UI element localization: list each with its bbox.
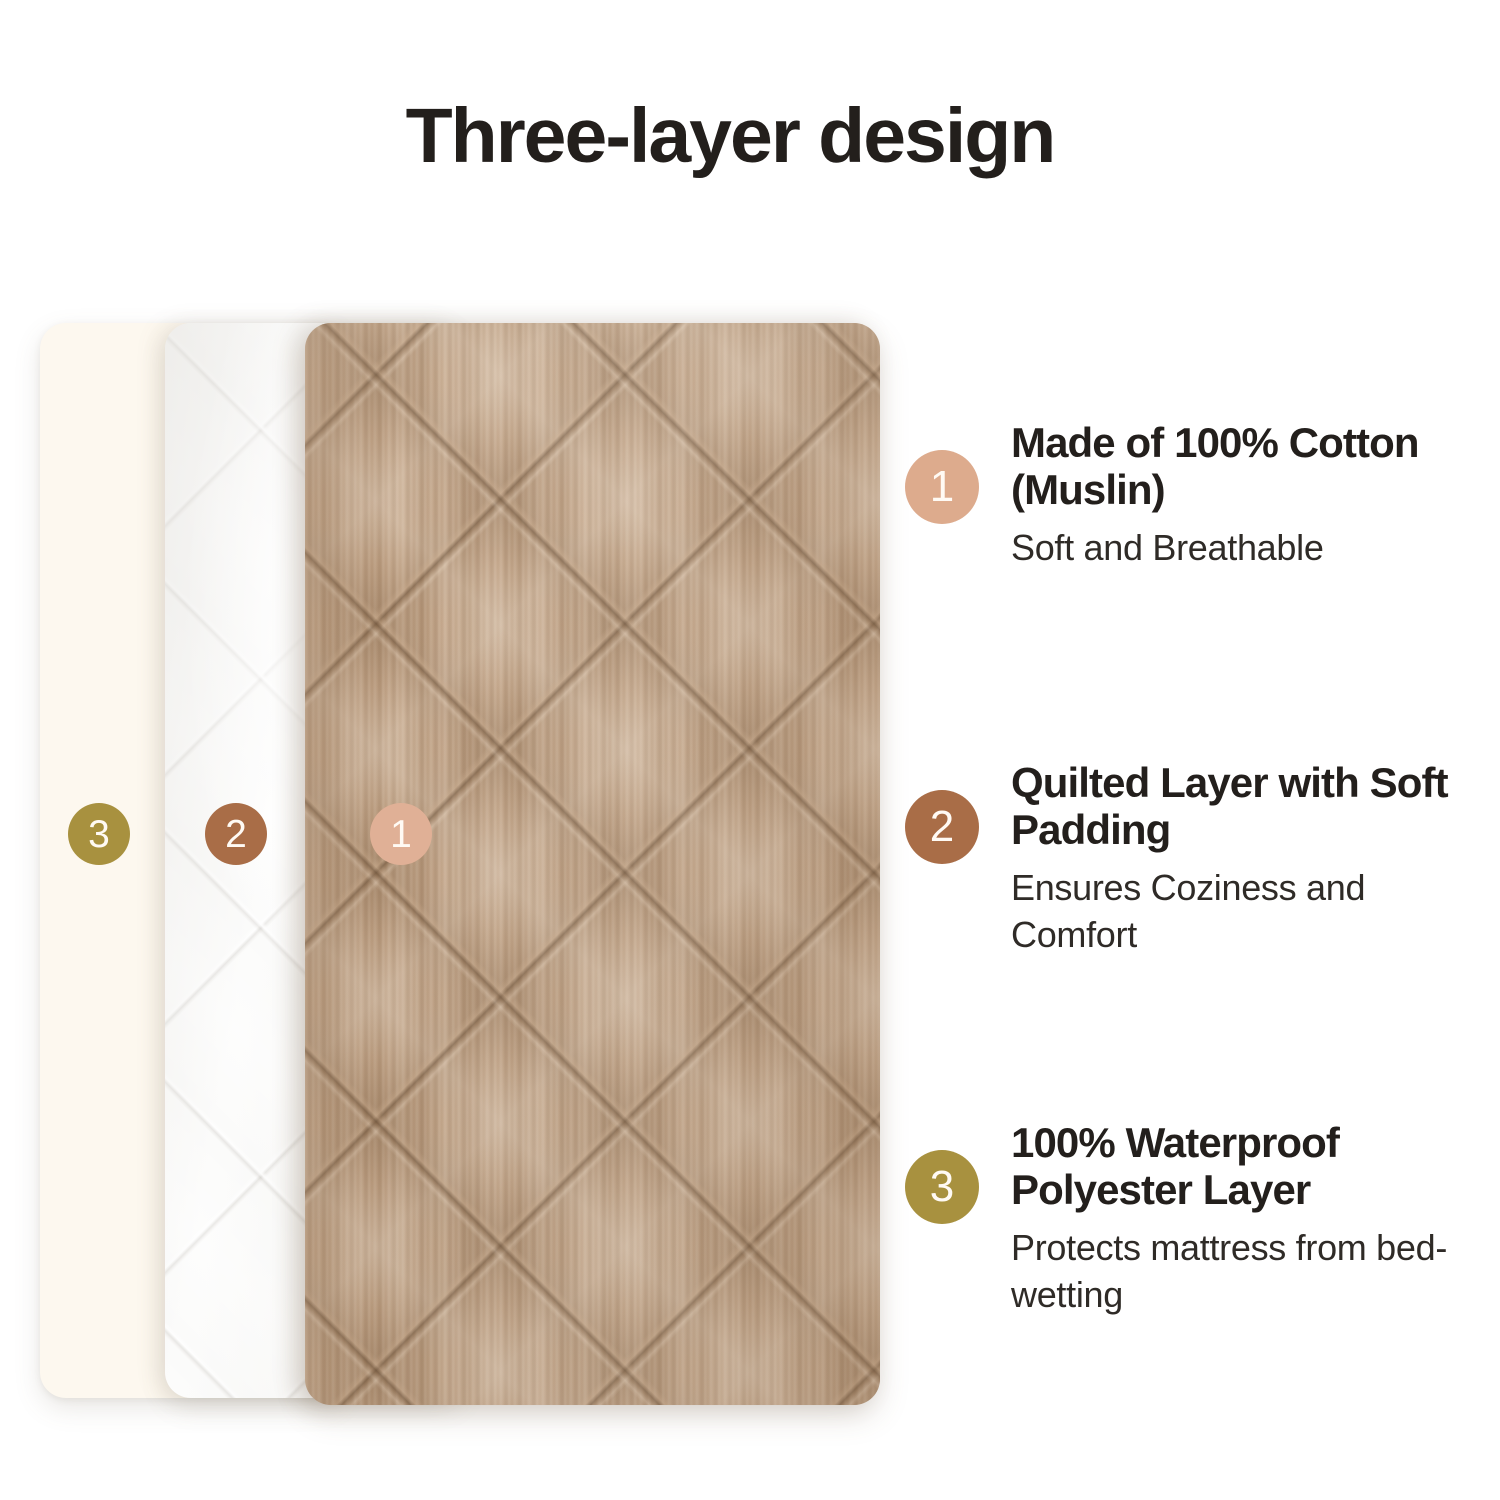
infographic-canvas: Three-layer design 3 2 1 1 Made of 100% … [0,0,1500,1500]
callout-text-group: Made of 100% Cotton (Muslin) Soft and Br… [1011,418,1465,572]
layer-badge-2: 2 [205,803,267,865]
layer-badge-1: 1 [370,803,432,865]
callout-heading: 100% Waterproof Polyester Layer [1011,1120,1465,1213]
layer-stack-illustration: 3 2 1 [0,0,940,1500]
callout-subtext: Ensures Coziness and Comfort [1011,865,1465,959]
callout-badge-3: 3 [905,1150,979,1224]
callout-heading: Made of 100% Cotton (Muslin) [1011,420,1465,513]
callout-subtext: Soft and Breathable [1011,525,1465,572]
callout-cotton-muslin: 1 Made of 100% Cotton (Muslin) Soft and … [905,418,1465,572]
callout-waterproof-polyester: 3 100% Waterproof Polyester Layer Protec… [905,1118,1465,1319]
callout-quilted-padding: 2 Quilted Layer with Soft Padding Ensure… [905,758,1465,959]
callout-text-group: Quilted Layer with Soft Padding Ensures … [1011,758,1465,959]
callout-heading: Quilted Layer with Soft Padding [1011,760,1465,853]
callout-badge-2: 2 [905,790,979,864]
layer-badge-3: 3 [68,803,130,865]
fabric-shading-overlay [305,323,880,1405]
callout-text-group: 100% Waterproof Polyester Layer Protects… [1011,1118,1465,1319]
callout-badge-1: 1 [905,450,979,524]
product-layer-cotton-muslin [305,323,880,1405]
callout-subtext: Protects mattress from bed-wetting [1011,1225,1465,1319]
